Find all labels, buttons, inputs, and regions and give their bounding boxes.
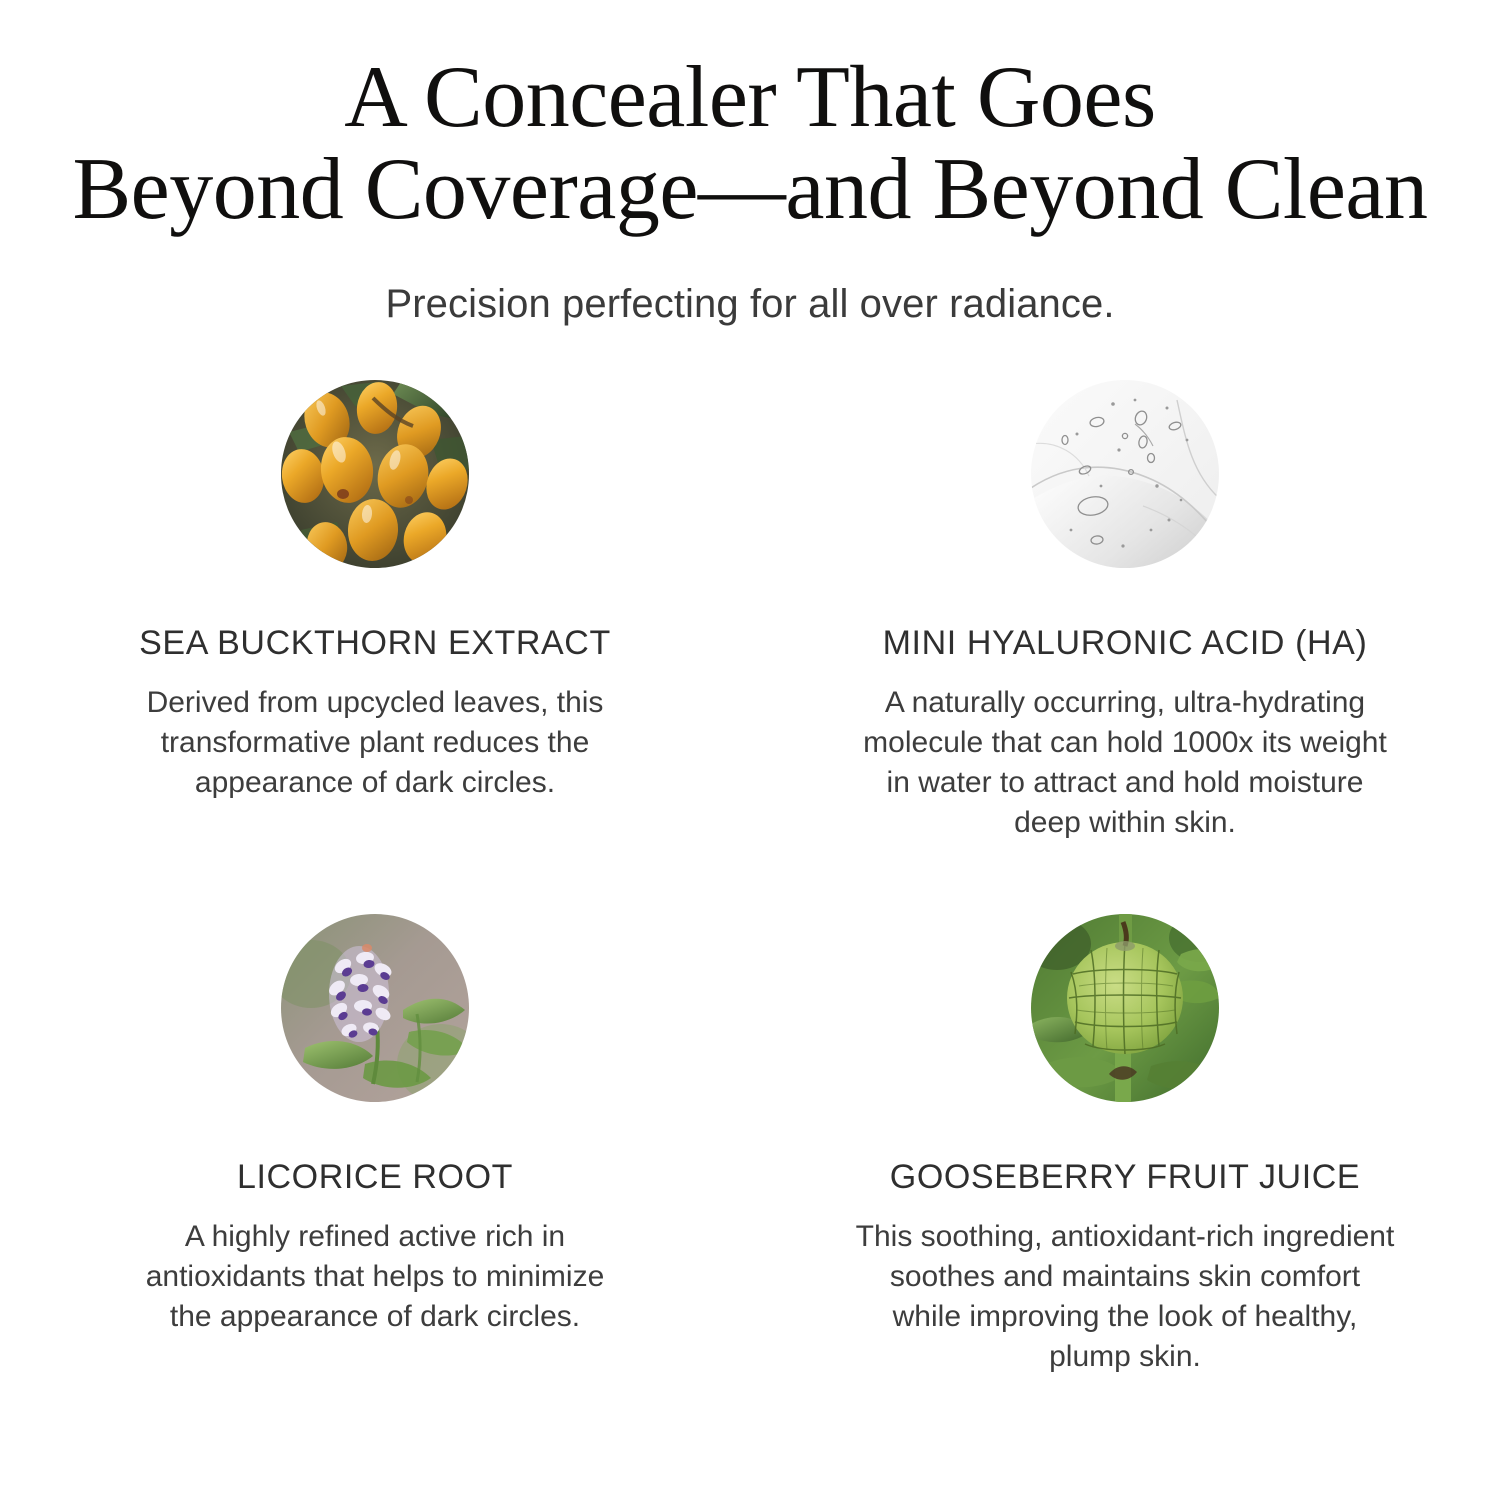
- ingredient-grid: SEA BUCKTHORN EXTRACT Derived from upcyc…: [0, 380, 1500, 1377]
- page-title: A Concealer That Goes Beyond Coverage—an…: [50, 52, 1450, 235]
- ingredient-name: MINI HYALURONIC ACID (HA): [883, 568, 1368, 663]
- ingredient-name: SEA BUCKTHORN EXTRACT: [139, 568, 611, 663]
- ingredient-card-gooseberry: GOOSEBERRY FRUIT JUICE This soothing, an…: [750, 914, 1500, 1377]
- ingredient-description: A highly refined active rich in antioxid…: [146, 1197, 605, 1337]
- page-subtitle: Precision perfecting for all over radian…: [0, 235, 1500, 327]
- ingredient-card-hyaluronic-acid: MINI HYALURONIC ACID (HA) A naturally oc…: [750, 380, 1500, 914]
- page-header: A Concealer That Goes Beyond Coverage—an…: [0, 0, 1500, 327]
- ingredient-description: This soothing, antioxidant-rich ingredie…: [856, 1197, 1395, 1377]
- sea-buckthorn-berries-photo: [281, 380, 469, 568]
- licorice-root-flower-photo: [281, 914, 469, 1102]
- ingredient-card-sea-buckthorn: SEA BUCKTHORN EXTRACT Derived from upcyc…: [0, 380, 750, 914]
- ingredient-benefits-page: A Concealer That Goes Beyond Coverage—an…: [0, 0, 1500, 1500]
- ingredient-name: LICORICE ROOT: [237, 1102, 513, 1197]
- gooseberry-fruit-photo: [1031, 914, 1219, 1102]
- ingredient-name: GOOSEBERRY FRUIT JUICE: [890, 1102, 1360, 1197]
- ingredient-card-licorice-root: LICORICE ROOT A highly refined active ri…: [0, 914, 750, 1377]
- hyaluronic-acid-gel-texture-photo: [1031, 380, 1219, 568]
- ingredient-description: A naturally occurring, ultra-hydrating m…: [863, 663, 1387, 843]
- ingredient-description: Derived from upcycled leaves, this trans…: [147, 663, 604, 803]
